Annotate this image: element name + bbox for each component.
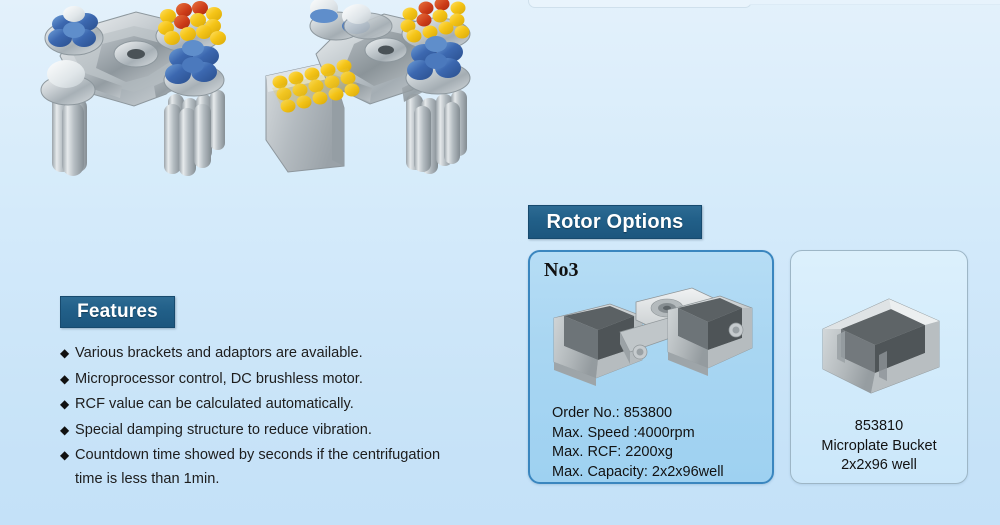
cropped-panel-edge bbox=[528, 0, 752, 8]
spec-max-speed: Max. Speed :4000rpm bbox=[552, 424, 767, 444]
diamond-bullet-icon: ◆ bbox=[60, 368, 75, 392]
feature-item: ◆ Special damping structure to reduce vi… bbox=[60, 419, 530, 443]
caption-order-no: 853810 bbox=[791, 417, 967, 437]
diamond-bullet-icon: ◆ bbox=[60, 342, 75, 366]
feature-item: ◆ Various brackets and adaptors are avai… bbox=[60, 342, 530, 366]
rotor-options-heading-label: Rotor Options bbox=[546, 211, 683, 234]
feature-item: ◆ Countdown time showed by seconds if th… bbox=[60, 444, 530, 491]
feature-text: RCF value can be calculated automaticall… bbox=[75, 393, 530, 417]
cropped-panel-edge-right bbox=[750, 0, 1000, 5]
features-heading: Features bbox=[60, 296, 175, 328]
feature-text: Various brackets and adaptors are availa… bbox=[75, 342, 530, 366]
feature-text: Countdown time showed by seconds if the … bbox=[75, 444, 530, 491]
caption-product-name: Microplate Bucket bbox=[791, 437, 967, 457]
spec-max-capacity: Max. Capacity: 2x2x96well bbox=[552, 463, 767, 483]
diamond-bullet-icon: ◆ bbox=[60, 419, 75, 443]
card-spec-list: Order No.: 853800 Max. Speed :4000rpm Ma… bbox=[552, 404, 767, 482]
microplate-bucket-photo bbox=[813, 281, 947, 405]
spec-max-rcf: Max. RCF: 2200xg bbox=[552, 443, 767, 463]
feature-item: ◆ RCF value can be calculated automatica… bbox=[60, 393, 530, 417]
rotor-options-heading: Rotor Options bbox=[528, 205, 702, 239]
rotor-bucket-no3-photo bbox=[550, 282, 760, 400]
feature-item: ◆ Microprocessor control, DC brushless m… bbox=[60, 368, 530, 392]
rotor-option-card-no3[interactable]: No3 bbox=[528, 250, 774, 484]
diamond-bullet-icon: ◆ bbox=[60, 444, 75, 468]
feature-text: Microprocessor control, DC brushless mot… bbox=[75, 368, 530, 392]
card-caption: 853810 Microplate Bucket 2x2x96 well bbox=[791, 417, 967, 476]
centrifuge-rotor-with-tube-adaptors-photo bbox=[16, 0, 256, 179]
product-brochure-page: Features ◆ Various brackets and adaptors… bbox=[0, 0, 1000, 525]
centrifuge-rotor-with-microtube-racks-photo bbox=[258, 0, 508, 180]
diamond-bullet-icon: ◆ bbox=[60, 393, 75, 417]
caption-capacity: 2x2x96 well bbox=[791, 456, 967, 476]
feature-text: Special damping structure to reduce vibr… bbox=[75, 419, 530, 443]
features-list: ◆ Various brackets and adaptors are avai… bbox=[60, 342, 530, 493]
rotor-option-card-microplate-bucket[interactable]: 853810 Microplate Bucket 2x2x96 well bbox=[790, 250, 968, 484]
features-heading-label: Features bbox=[77, 301, 158, 323]
card-title: No3 bbox=[544, 259, 578, 282]
spec-order-no: Order No.: 853800 bbox=[552, 404, 767, 424]
